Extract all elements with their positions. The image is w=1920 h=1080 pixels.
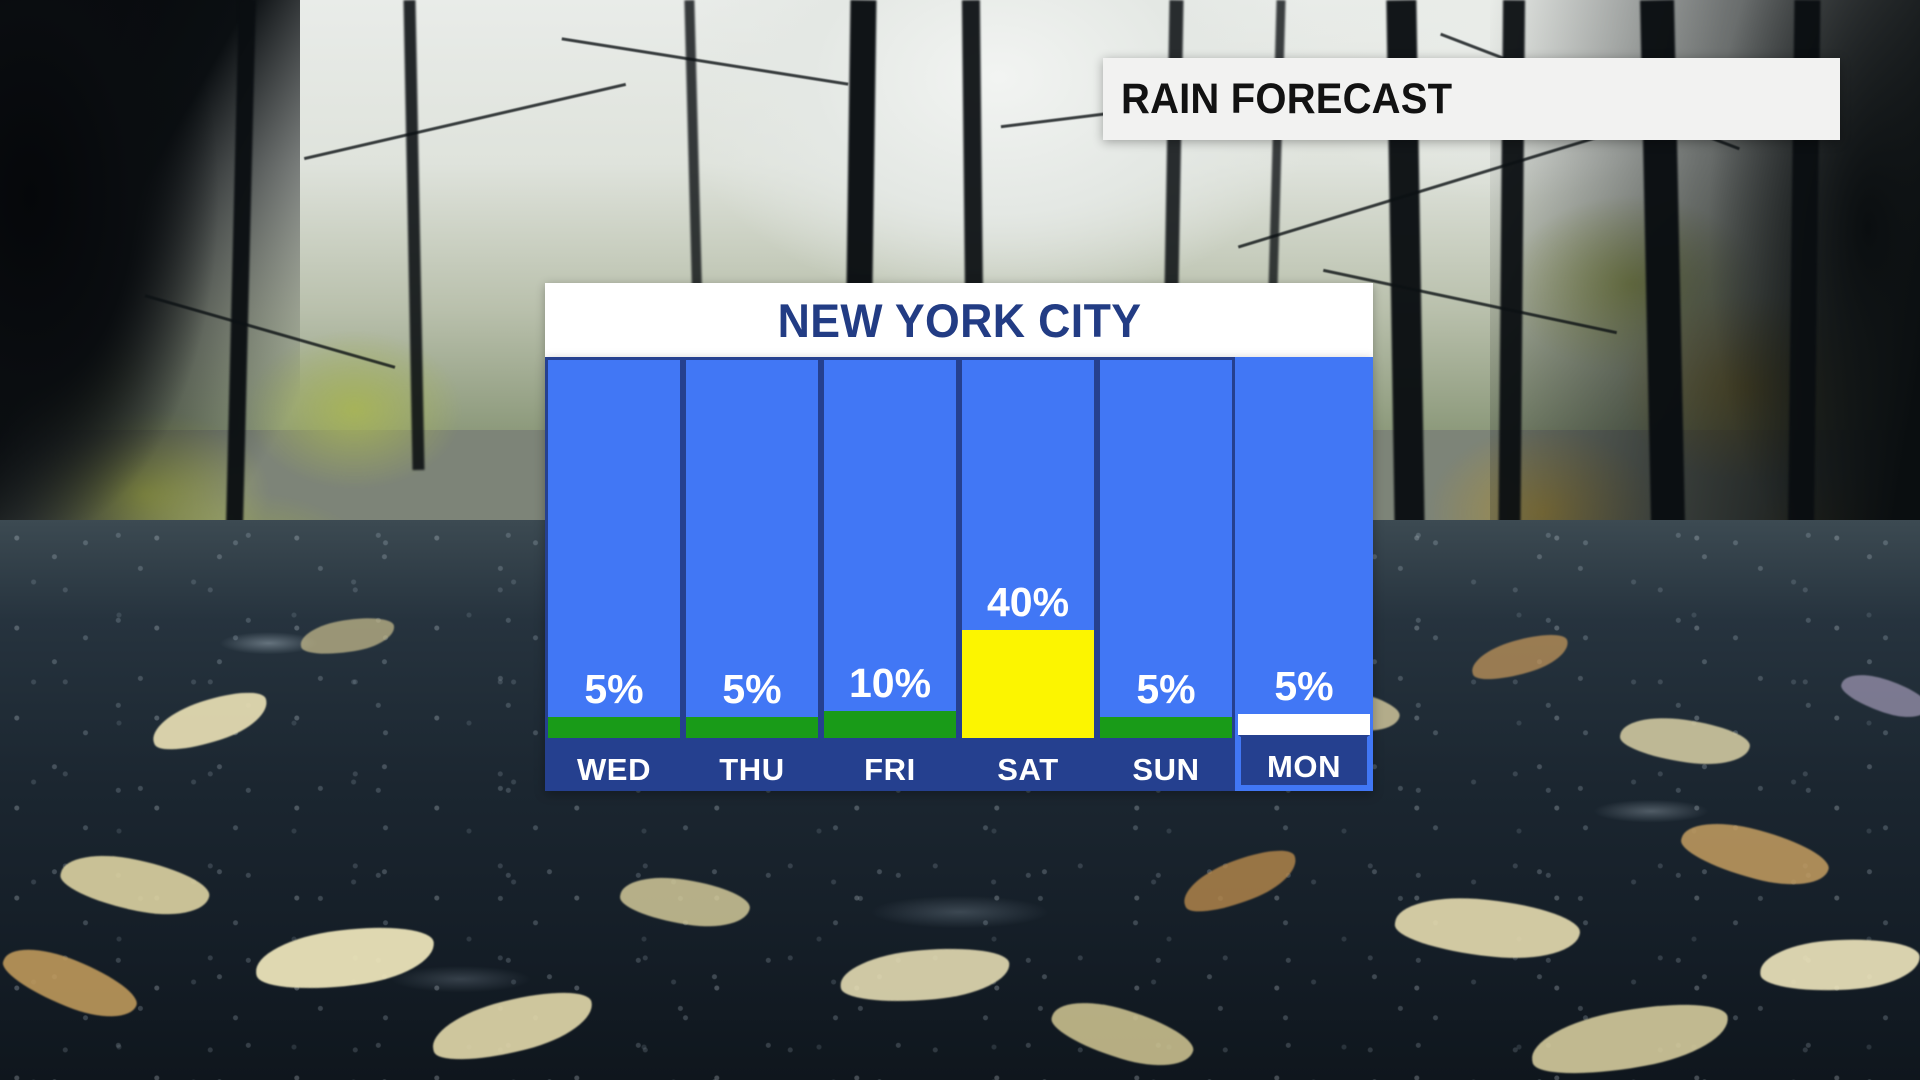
chance-label-mon: 5% — [1238, 666, 1370, 714]
forecast-bar-chart: 5% WED 5% THU 10% FRI — [545, 357, 1373, 791]
day-label-mon: MON — [1267, 749, 1341, 785]
chance-label-thu: 5% — [686, 669, 818, 717]
forecast-column-sun[interactable]: 5% SUN — [1097, 357, 1235, 791]
day-label-wed: WED — [577, 752, 651, 788]
day-label-thu: THU — [719, 752, 785, 788]
chance-label-sun: 5% — [1100, 669, 1232, 717]
forecast-column-mon[interactable]: 5% MON — [1235, 357, 1373, 791]
chance-label-fri: 10% — [824, 663, 956, 711]
day-label-sat: SAT — [997, 752, 1059, 788]
chance-label-sat: 40% — [962, 582, 1094, 630]
day-box-sun: SUN — [1100, 738, 1232, 788]
day-box-fri: FRI — [824, 738, 956, 788]
day-box-sat: SAT — [962, 738, 1094, 788]
rain-bar-sun — [1100, 717, 1232, 738]
rain-bar-sat — [962, 630, 1094, 738]
rain-bar-thu — [686, 717, 818, 738]
banner-title: RAIN FORECAST — [1121, 75, 1452, 124]
forecast-card: NEW YORK CITY 5% WED 5% THU 10% — [545, 283, 1373, 791]
day-box-wed: WED — [548, 738, 680, 788]
day-box-mon: MON — [1238, 735, 1370, 788]
rain-forecast-banner: RAIN FORECAST — [1103, 58, 1840, 140]
rain-bar-wed — [548, 717, 680, 738]
forecast-column-wed[interactable]: 5% WED — [545, 357, 683, 791]
forecast-column-fri[interactable]: 10% FRI — [821, 357, 959, 791]
city-name: NEW YORK CITY — [777, 293, 1141, 348]
day-label-fri: FRI — [864, 752, 916, 788]
rain-bar-fri — [824, 711, 956, 738]
forecast-column-sat[interactable]: 40% SAT — [959, 357, 1097, 791]
day-label-sun: SUN — [1132, 752, 1199, 788]
forecast-column-thu[interactable]: 5% THU — [683, 357, 821, 791]
shadow-mass-left — [0, 0, 300, 560]
chance-label-wed: 5% — [548, 669, 680, 717]
rain-bar-mon — [1238, 714, 1370, 735]
day-box-thu: THU — [686, 738, 818, 788]
weather-graphic: RAIN FORECAST NEW YORK CITY 5% WED 5% TH… — [0, 0, 1920, 1080]
city-title-bar: NEW YORK CITY — [545, 283, 1373, 357]
